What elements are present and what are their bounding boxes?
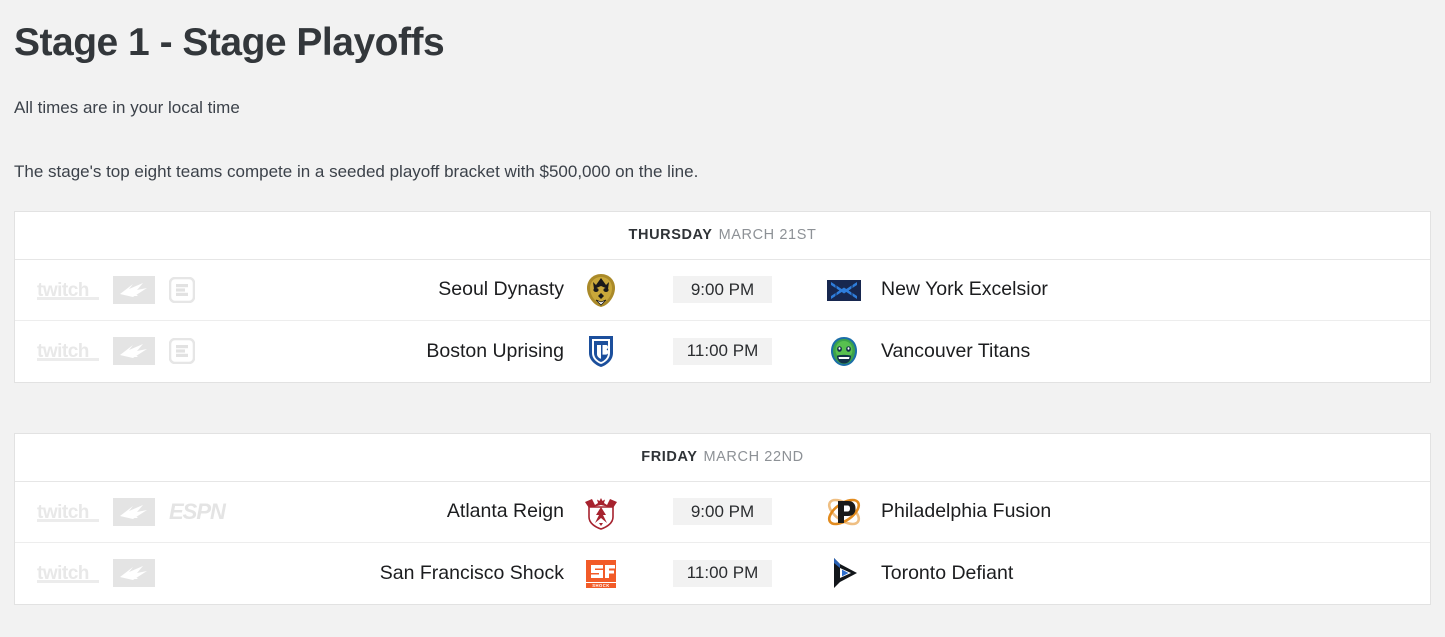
owl-swoosh-icon[interactable] <box>113 559 155 587</box>
twitch-icon[interactable]: twitch <box>37 279 99 301</box>
home-team-name: Seoul Dynasty <box>438 278 564 301</box>
day-of-week-label: FRIDAY <box>641 449 697 465</box>
match-row[interactable]: twitch ESPN Atlanta Reign <box>15 482 1430 543</box>
away-team-name: Toronto Defiant <box>881 562 1013 585</box>
day-date-label: MARCH 21ST <box>719 227 817 243</box>
away-team-name: Vancouver Titans <box>881 340 1030 363</box>
atlanta-reign-logo <box>581 492 621 532</box>
day-header-0: THURSDAY MARCH 21ST <box>15 212 1430 260</box>
broadcast-links: twitch <box>15 559 345 587</box>
away-team: Toronto Defiant <box>824 553 1100 593</box>
boston-uprising-logo <box>581 331 621 371</box>
owl-swoosh-icon[interactable] <box>113 498 155 526</box>
match-row[interactable]: twitch Boston Uprising <box>15 321 1430 382</box>
vancouver-titans-logo <box>824 331 864 371</box>
broadcast-links: twitch <box>15 337 345 365</box>
twitch-icon[interactable]: twitch <box>37 340 99 362</box>
home-team-name: Atlanta Reign <box>447 500 564 523</box>
home-team: Boston Uprising <box>345 331 621 371</box>
match-time: 11:00 PM <box>673 338 772 365</box>
home-team-name: Boston Uprising <box>426 340 564 363</box>
away-team: Philadelphia Fusion <box>824 492 1100 532</box>
away-team: New York Excelsior <box>824 270 1100 310</box>
match-time: 9:00 PM <box>673 276 772 303</box>
stage-description: The stage's top eight teams compete in a… <box>14 162 1431 182</box>
san-francisco-shock-logo: SHOCK <box>581 553 621 593</box>
espn-wordmark-icon[interactable]: ESPN <box>169 499 255 525</box>
svg-text:ESPN: ESPN <box>169 499 227 524</box>
match-time: 9:00 PM <box>673 498 772 525</box>
broadcast-links: twitch <box>15 276 345 304</box>
day-of-week-label: THURSDAY <box>629 227 713 243</box>
toronto-defiant-logo <box>824 553 864 593</box>
owl-swoosh-icon[interactable] <box>113 276 155 304</box>
day-header-1: FRIDAY MARCH 22ND <box>15 434 1430 482</box>
home-team: Atlanta Reign <box>345 492 621 532</box>
away-team: Vancouver Titans <box>824 331 1100 371</box>
local-time-note: All times are in your local time <box>14 98 1431 118</box>
owl-swoosh-icon[interactable] <box>113 337 155 365</box>
espn-app-icon[interactable] <box>169 277 195 303</box>
twitch-icon[interactable]: twitch <box>37 562 99 584</box>
away-team-name: New York Excelsior <box>881 278 1048 301</box>
schedule-card-day-1: FRIDAY MARCH 22ND twitch ESPN Atlanta Re… <box>14 433 1431 605</box>
seoul-dynasty-logo <box>581 270 621 310</box>
match-row[interactable]: twitch Seoul Dynasty <box>15 260 1430 321</box>
broadcast-links: twitch ESPN <box>15 498 345 526</box>
new-york-excelsior-logo <box>824 270 864 310</box>
home-team: San Francisco Shock SHOCK <box>345 553 621 593</box>
home-team-name: San Francisco Shock <box>380 562 564 585</box>
home-team: Seoul Dynasty <box>345 270 621 310</box>
schedule-card-day-0: THURSDAY MARCH 21ST twitch Seoul Dynasty <box>14 211 1431 383</box>
away-team-name: Philadelphia Fusion <box>881 500 1051 523</box>
philadelphia-fusion-logo <box>824 492 864 532</box>
twitch-icon[interactable]: twitch <box>37 501 99 523</box>
page-title: Stage 1 - Stage Playoffs <box>14 0 1431 65</box>
match-time: 11:00 PM <box>673 560 772 587</box>
day-date-label: MARCH 22ND <box>703 449 803 465</box>
svg-text:SHOCK: SHOCK <box>592 584 610 589</box>
espn-app-icon[interactable] <box>169 338 195 364</box>
match-row[interactable]: twitch San Francisco Shock SHOCK <box>15 543 1430 604</box>
schedule-page: Stage 1 - Stage Playoffs All times are i… <box>0 0 1445 605</box>
